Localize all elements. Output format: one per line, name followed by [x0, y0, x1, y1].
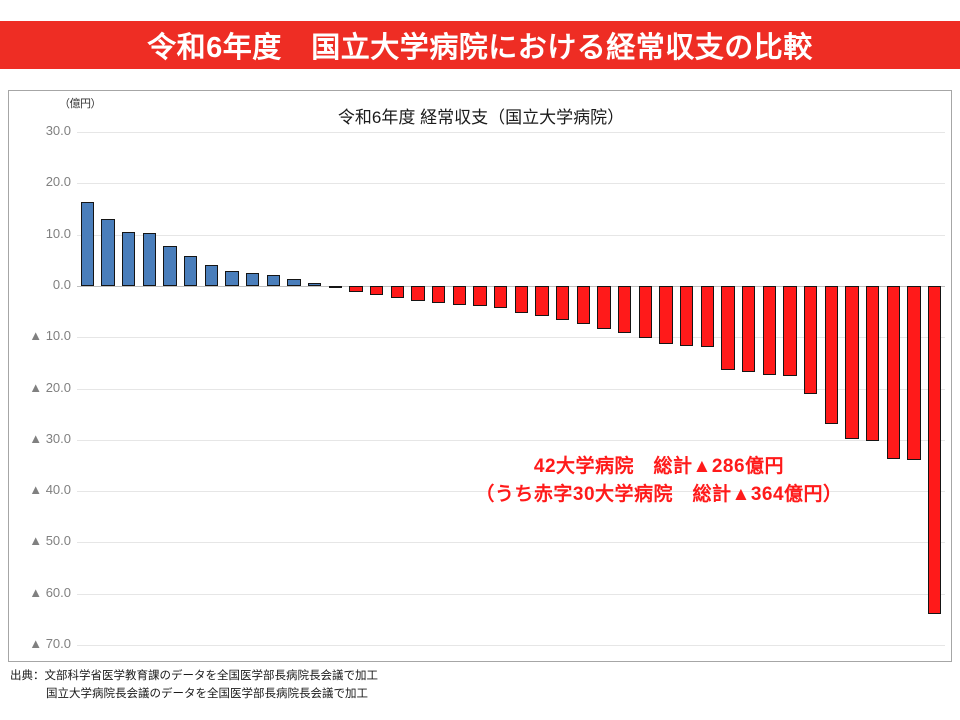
bar — [287, 279, 300, 286]
source-line-1: 出典：文部科学省医学教育課のデータを全国医学部長病院長会議で加工 — [10, 668, 710, 686]
bar — [349, 286, 362, 292]
y-axis-tick-label: ▲ 70.0 — [0, 636, 71, 651]
bar — [432, 286, 445, 303]
bar — [411, 286, 424, 301]
source-line-2: 国立大学病院長会議のデータを全国医学部長病院長会議で加工 — [10, 686, 710, 704]
bar — [597, 286, 610, 329]
y-axis-tick-label: ▲ 10.0 — [0, 328, 71, 343]
bar — [742, 286, 755, 372]
bar — [535, 286, 548, 316]
bar — [515, 286, 528, 313]
summary-annotation: 42大学病院 総計▲286億円 （うち赤字30大学病院 総計▲364億円） — [389, 453, 929, 508]
page-title: 令和6年度 国立大学病院における経常収支の比較 — [147, 24, 813, 66]
bar — [721, 286, 734, 370]
bar — [370, 286, 383, 295]
bar — [680, 286, 693, 347]
bar — [825, 286, 838, 424]
bar — [267, 275, 280, 286]
plot-area: 30.020.010.00.0▲ 10.0▲ 20.0▲ 30.0▲ 40.0▲… — [77, 132, 945, 645]
bar — [163, 246, 176, 286]
bar — [143, 233, 156, 286]
bar — [804, 286, 817, 394]
bar — [887, 286, 900, 459]
bar — [618, 286, 631, 333]
y-axis-tick-label: ▲ 20.0 — [0, 380, 71, 395]
bar — [494, 286, 507, 309]
bar — [701, 286, 714, 348]
chart-title: 令和6年度 経常収支（国立大学病院） — [9, 103, 953, 128]
y-axis-tick-label: ▲ 40.0 — [0, 482, 71, 497]
slide-page: 令和6年度 国立大学病院における経常収支の比較 （億円） 令和6年度 経常収支（… — [0, 0, 960, 720]
source-footnote: 出典：文部科学省医学教育課のデータを全国医学部長病院長会議で加工 国立大学病院長… — [10, 668, 710, 704]
bar — [577, 286, 590, 324]
bar — [122, 232, 135, 286]
bar — [928, 286, 941, 614]
annotation-line-2: （うち赤字30大学病院 総計▲364億円） — [389, 481, 929, 509]
bar — [907, 286, 920, 460]
y-axis-tick-label: ▲ 30.0 — [0, 431, 71, 446]
bar — [101, 219, 114, 286]
bar — [639, 286, 652, 338]
bars-group — [77, 132, 945, 645]
bar — [453, 286, 466, 305]
bar — [391, 286, 404, 298]
gridline — [77, 645, 945, 646]
bar — [473, 286, 486, 307]
bar — [783, 286, 796, 376]
bar — [205, 265, 218, 286]
y-axis-tick-label: 10.0 — [0, 226, 71, 241]
bar — [184, 256, 197, 286]
y-axis-tick-label: ▲ 60.0 — [0, 585, 71, 600]
bar — [329, 286, 342, 289]
bar — [81, 202, 94, 286]
bar — [556, 286, 569, 320]
bar — [225, 271, 238, 286]
bar — [866, 286, 879, 441]
annotation-line-1: 42大学病院 総計▲286億円 — [389, 453, 929, 481]
chart-container: （億円） 令和6年度 経常収支（国立大学病院） 30.020.010.00.0▲… — [8, 90, 952, 662]
bar — [659, 286, 672, 344]
bar — [246, 273, 259, 286]
y-axis-tick-label: 0.0 — [0, 277, 71, 292]
bar — [308, 283, 321, 286]
slide-title-banner: 令和6年度 国立大学病院における経常収支の比較 — [0, 21, 960, 69]
bar — [845, 286, 858, 439]
y-axis-tick-label: 20.0 — [0, 174, 71, 189]
y-axis-tick-label: 30.0 — [0, 123, 71, 138]
y-axis-tick-label: ▲ 50.0 — [0, 533, 71, 548]
bar — [763, 286, 776, 375]
